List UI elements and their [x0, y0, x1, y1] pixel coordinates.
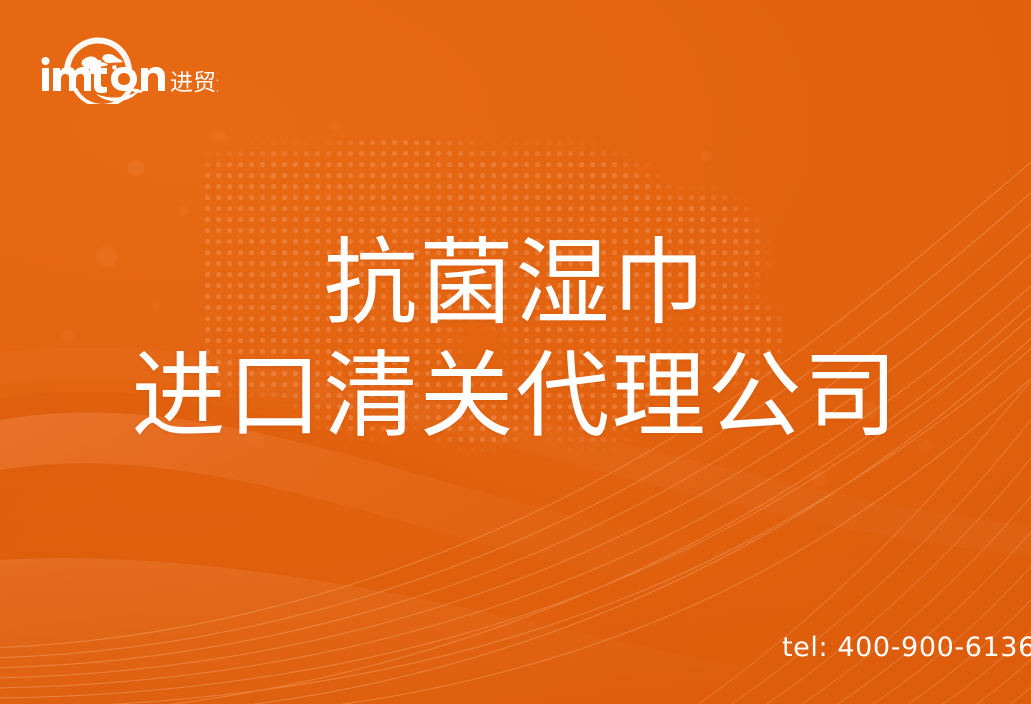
- headline-line-2: 进口清关代理公司: [0, 341, 1031, 454]
- globe-swoosh-icon: 进贸通 ®: [38, 26, 218, 104]
- promo-banner: 进贸通 ® 抗菌湿巾 进口清关代理公司 tel: 400-900-6136: [0, 0, 1031, 704]
- headline-line-1: 抗菌湿巾: [0, 228, 1031, 341]
- headline: 抗菌湿巾 进口清关代理公司: [0, 228, 1031, 454]
- contact-phone[interactable]: tel: 400-900-6136: [782, 632, 1031, 663]
- brand-logo[interactable]: 进贸通 ®: [38, 26, 218, 104]
- logo-wordmark: [42, 57, 166, 93]
- logo-chinese-name: 进贸通: [170, 70, 218, 96]
